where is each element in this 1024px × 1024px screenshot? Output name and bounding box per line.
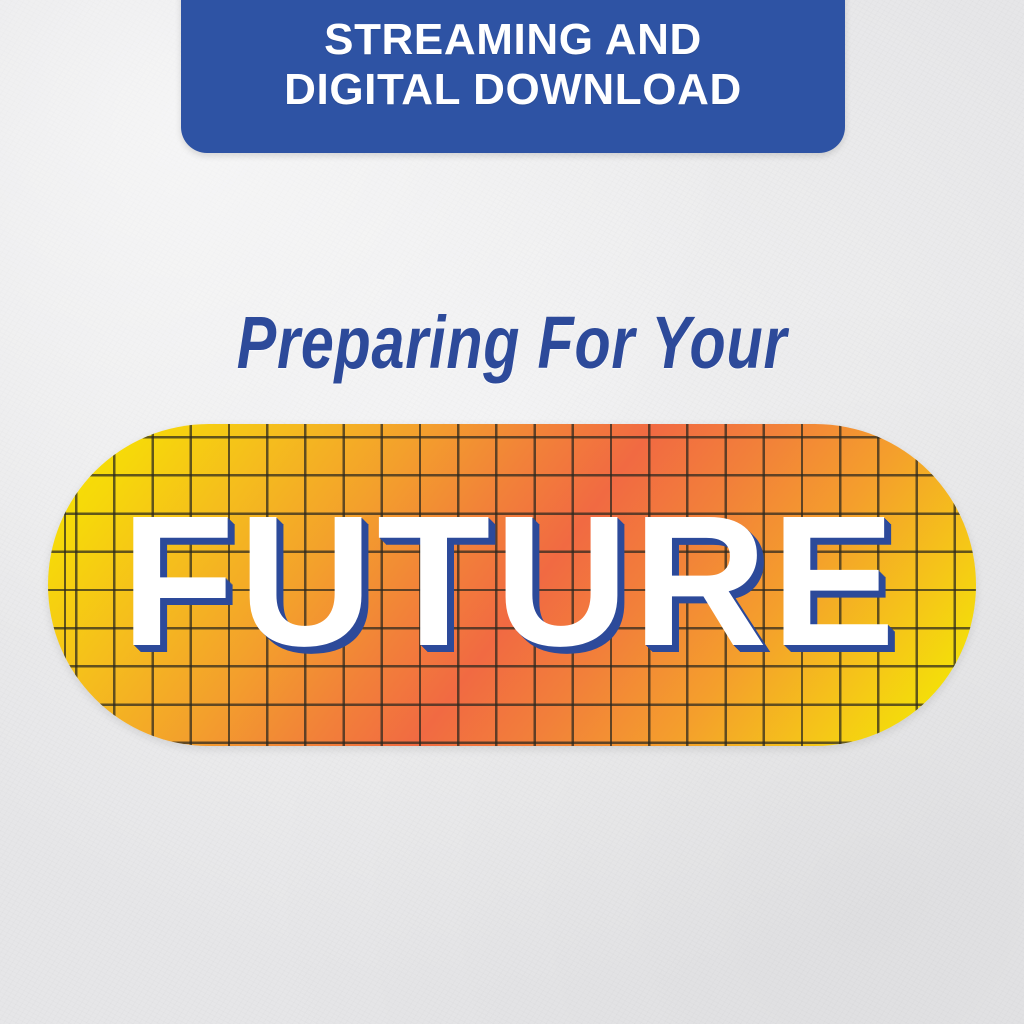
poster-canvas: STREAMING AND DIGITAL DOWNLOAD Preparing…	[0, 0, 1024, 1024]
banner-label: STREAMING AND DIGITAL DOWNLOAD	[284, 15, 742, 115]
future-pill: FUTURE	[48, 424, 976, 746]
streaming-banner: STREAMING AND DIGITAL DOWNLOAD	[181, 0, 845, 153]
page-title: Preparing For Your	[102, 300, 921, 385]
future-word: FUTURE	[48, 424, 976, 746]
